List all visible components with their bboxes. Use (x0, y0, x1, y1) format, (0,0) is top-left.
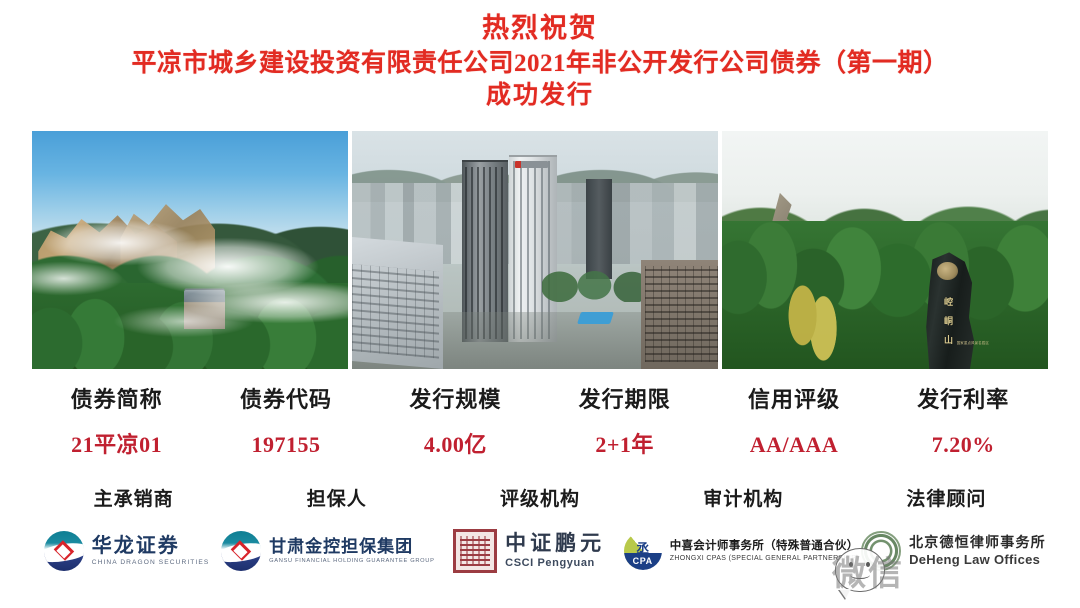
photo-monument-subtitle: 国家重点风景名胜区 (957, 340, 989, 345)
role-rating-agency: 评级机构 (438, 484, 641, 511)
role-label: 评级机构 (438, 484, 641, 511)
bond-column-code: 债券代码 197155 (201, 386, 370, 459)
photo-left-office-block (352, 237, 444, 369)
announcement-title-block: 热烈祝贺 平凉市城乡建设投资有限责任公司2021年非公开发行公司债券（第一期） … (0, 0, 1080, 112)
column-label: 发行期限 (540, 386, 709, 415)
role-auditor: 审计机构 (642, 484, 845, 511)
title-line-congratulations: 热烈祝贺 (0, 12, 1080, 45)
logo-text-group: 甘肃金控担保集团 GANSU FINANCIAL HOLDING GUARANT… (269, 538, 435, 564)
role-label: 主承销商 (32, 484, 235, 511)
bond-column-issue-size: 发行规模 4.00亿 (371, 386, 540, 459)
photo-strip: 崆 峒 山 国家重点风景名胜区 (32, 131, 1048, 369)
logo-name-cn: 北京德恒律师事务所 (909, 535, 1046, 550)
bond-column-coupon-rate: 发行利率 7.20% (879, 386, 1048, 459)
role-label: 法律顾问 (845, 484, 1048, 511)
monument-char-1: 崆 (944, 298, 953, 307)
diamond-inner-icon (234, 544, 248, 558)
column-value: 4.00亿 (371, 431, 540, 460)
cpa-badge-icon: 丞 CPA (624, 532, 662, 570)
role-label: 审计机构 (642, 484, 845, 511)
logo-name-en: GANSU FINANCIAL HOLDING GUARANTEE GROUP (269, 558, 435, 564)
role-guarantor: 担保人 (235, 484, 438, 511)
monument-char-3: 山 (944, 336, 953, 345)
logo-hualong-securities: 华龙证券 CHINA DRAGON SECURITIES (32, 521, 221, 581)
logo-text-group: 中证鹏元 CSCI Pengyuan (505, 533, 605, 568)
role-legal-counsel: 法律顾问 (845, 484, 1048, 511)
column-value: 2+1年 (540, 431, 709, 460)
role-lead-underwriter: 主承销商 (32, 484, 235, 511)
logo-name-cn: 中证鹏元 (505, 533, 605, 555)
logo-name-en: DeHeng Law Offices (909, 552, 1046, 567)
photo-golden-foliage (787, 283, 839, 364)
wave-diamond-icon (44, 531, 84, 571)
misty-mountain-photo (32, 131, 348, 369)
cpa-badge-label: CPA (624, 556, 662, 566)
monument-char-2: 峒 (944, 317, 953, 326)
participant-logo-row: 华龙证券 CHINA DRAGON SECURITIES 甘肃金控担保集团 GA… (32, 521, 1048, 581)
logo-text-group: 华龙证券 CHINA DRAGON SECURITIES (92, 536, 210, 567)
column-label: 发行利率 (879, 386, 1048, 415)
logo-name-en: CHINA DRAGON SECURITIES (92, 559, 210, 566)
column-value: 7.20% (879, 431, 1048, 460)
logo-name-cn: 中喜会计师事务所（特殊普通合伙） (670, 540, 859, 553)
logo-text-group: 北京德恒律师事务所 DeHeng Law Offices (909, 535, 1046, 566)
logo-name-en: CSCI Pengyuan (505, 557, 605, 569)
bond-column-term: 发行期限 2+1年 (540, 386, 709, 459)
logo-name-cn: 甘肃金控担保集团 (269, 538, 435, 556)
photo-swimming-pool (577, 312, 614, 324)
column-label: 发行规模 (371, 386, 540, 415)
deheng-seal-icon (861, 531, 901, 571)
title-line-issued-successfully: 成功发行 (0, 81, 1080, 112)
bond-column-short-name: 债券简称 21平凉01 (32, 386, 201, 459)
title-line-bond-name: 平凉市城乡建设投资有限责任公司2021年非公开发行公司债券（第一期） (0, 49, 1080, 80)
role-label: 担保人 (235, 484, 438, 511)
photo-monument-disc (937, 262, 958, 280)
photo-monument-inscription: 崆 峒 山 (939, 288, 959, 355)
red-seal-icon (453, 529, 497, 573)
photo-dense-forest (722, 221, 1048, 369)
column-value: AA/AAA (709, 431, 878, 460)
column-label: 信用评级 (709, 386, 878, 415)
cpa-brush-mark-icon: 丞 (636, 538, 649, 557)
photo-building-signage (515, 161, 548, 168)
city-skyline-photo (352, 131, 718, 369)
column-label: 债券代码 (201, 386, 370, 415)
logo-name-cn: 华龙证券 (92, 536, 210, 558)
photo-right-residential-block (641, 260, 718, 369)
smiley-tail-icon (839, 589, 851, 599)
photo-mist-layer (32, 131, 348, 369)
wave-diamond-icon (221, 531, 261, 571)
diamond-inner-icon (57, 544, 71, 558)
bond-column-credit-rating: 信用评级 AA/AAA (709, 386, 878, 459)
column-value: 197155 (201, 431, 370, 460)
logo-csci-pengyuan: 中证鹏元 CSCI Pengyuan (435, 521, 624, 581)
logo-deheng-law-offices: 北京德恒律师事务所 DeHeng Law Offices (859, 521, 1048, 581)
bond-summary-table: 债券简称 21平凉01 债券代码 197155 发行规模 4.00亿 发行期限 … (32, 386, 1048, 459)
participant-role-row: 主承销商 担保人 评级机构 审计机构 法律顾问 (32, 484, 1048, 511)
logo-zhongxi-cpas: 丞 CPA 中喜会计师事务所（特殊普通合伙） ZHONGXI CPAS (SPE… (624, 521, 859, 581)
kongtong-monument-photo: 崆 峒 山 国家重点风景名胜区 (722, 131, 1048, 369)
column-label: 债券简称 (32, 386, 201, 415)
logo-gansu-financial-holding: 甘肃金控担保集团 GANSU FINANCIAL HOLDING GUARANT… (221, 521, 435, 581)
logo-text-group: 中喜会计师事务所（特殊普通合伙） ZHONGXI CPAS (SPECIAL G… (670, 540, 859, 562)
column-value: 21平凉01 (32, 431, 201, 460)
logo-name-en: ZHONGXI CPAS (SPECIAL GENERAL PARTNERSHI… (670, 555, 859, 562)
